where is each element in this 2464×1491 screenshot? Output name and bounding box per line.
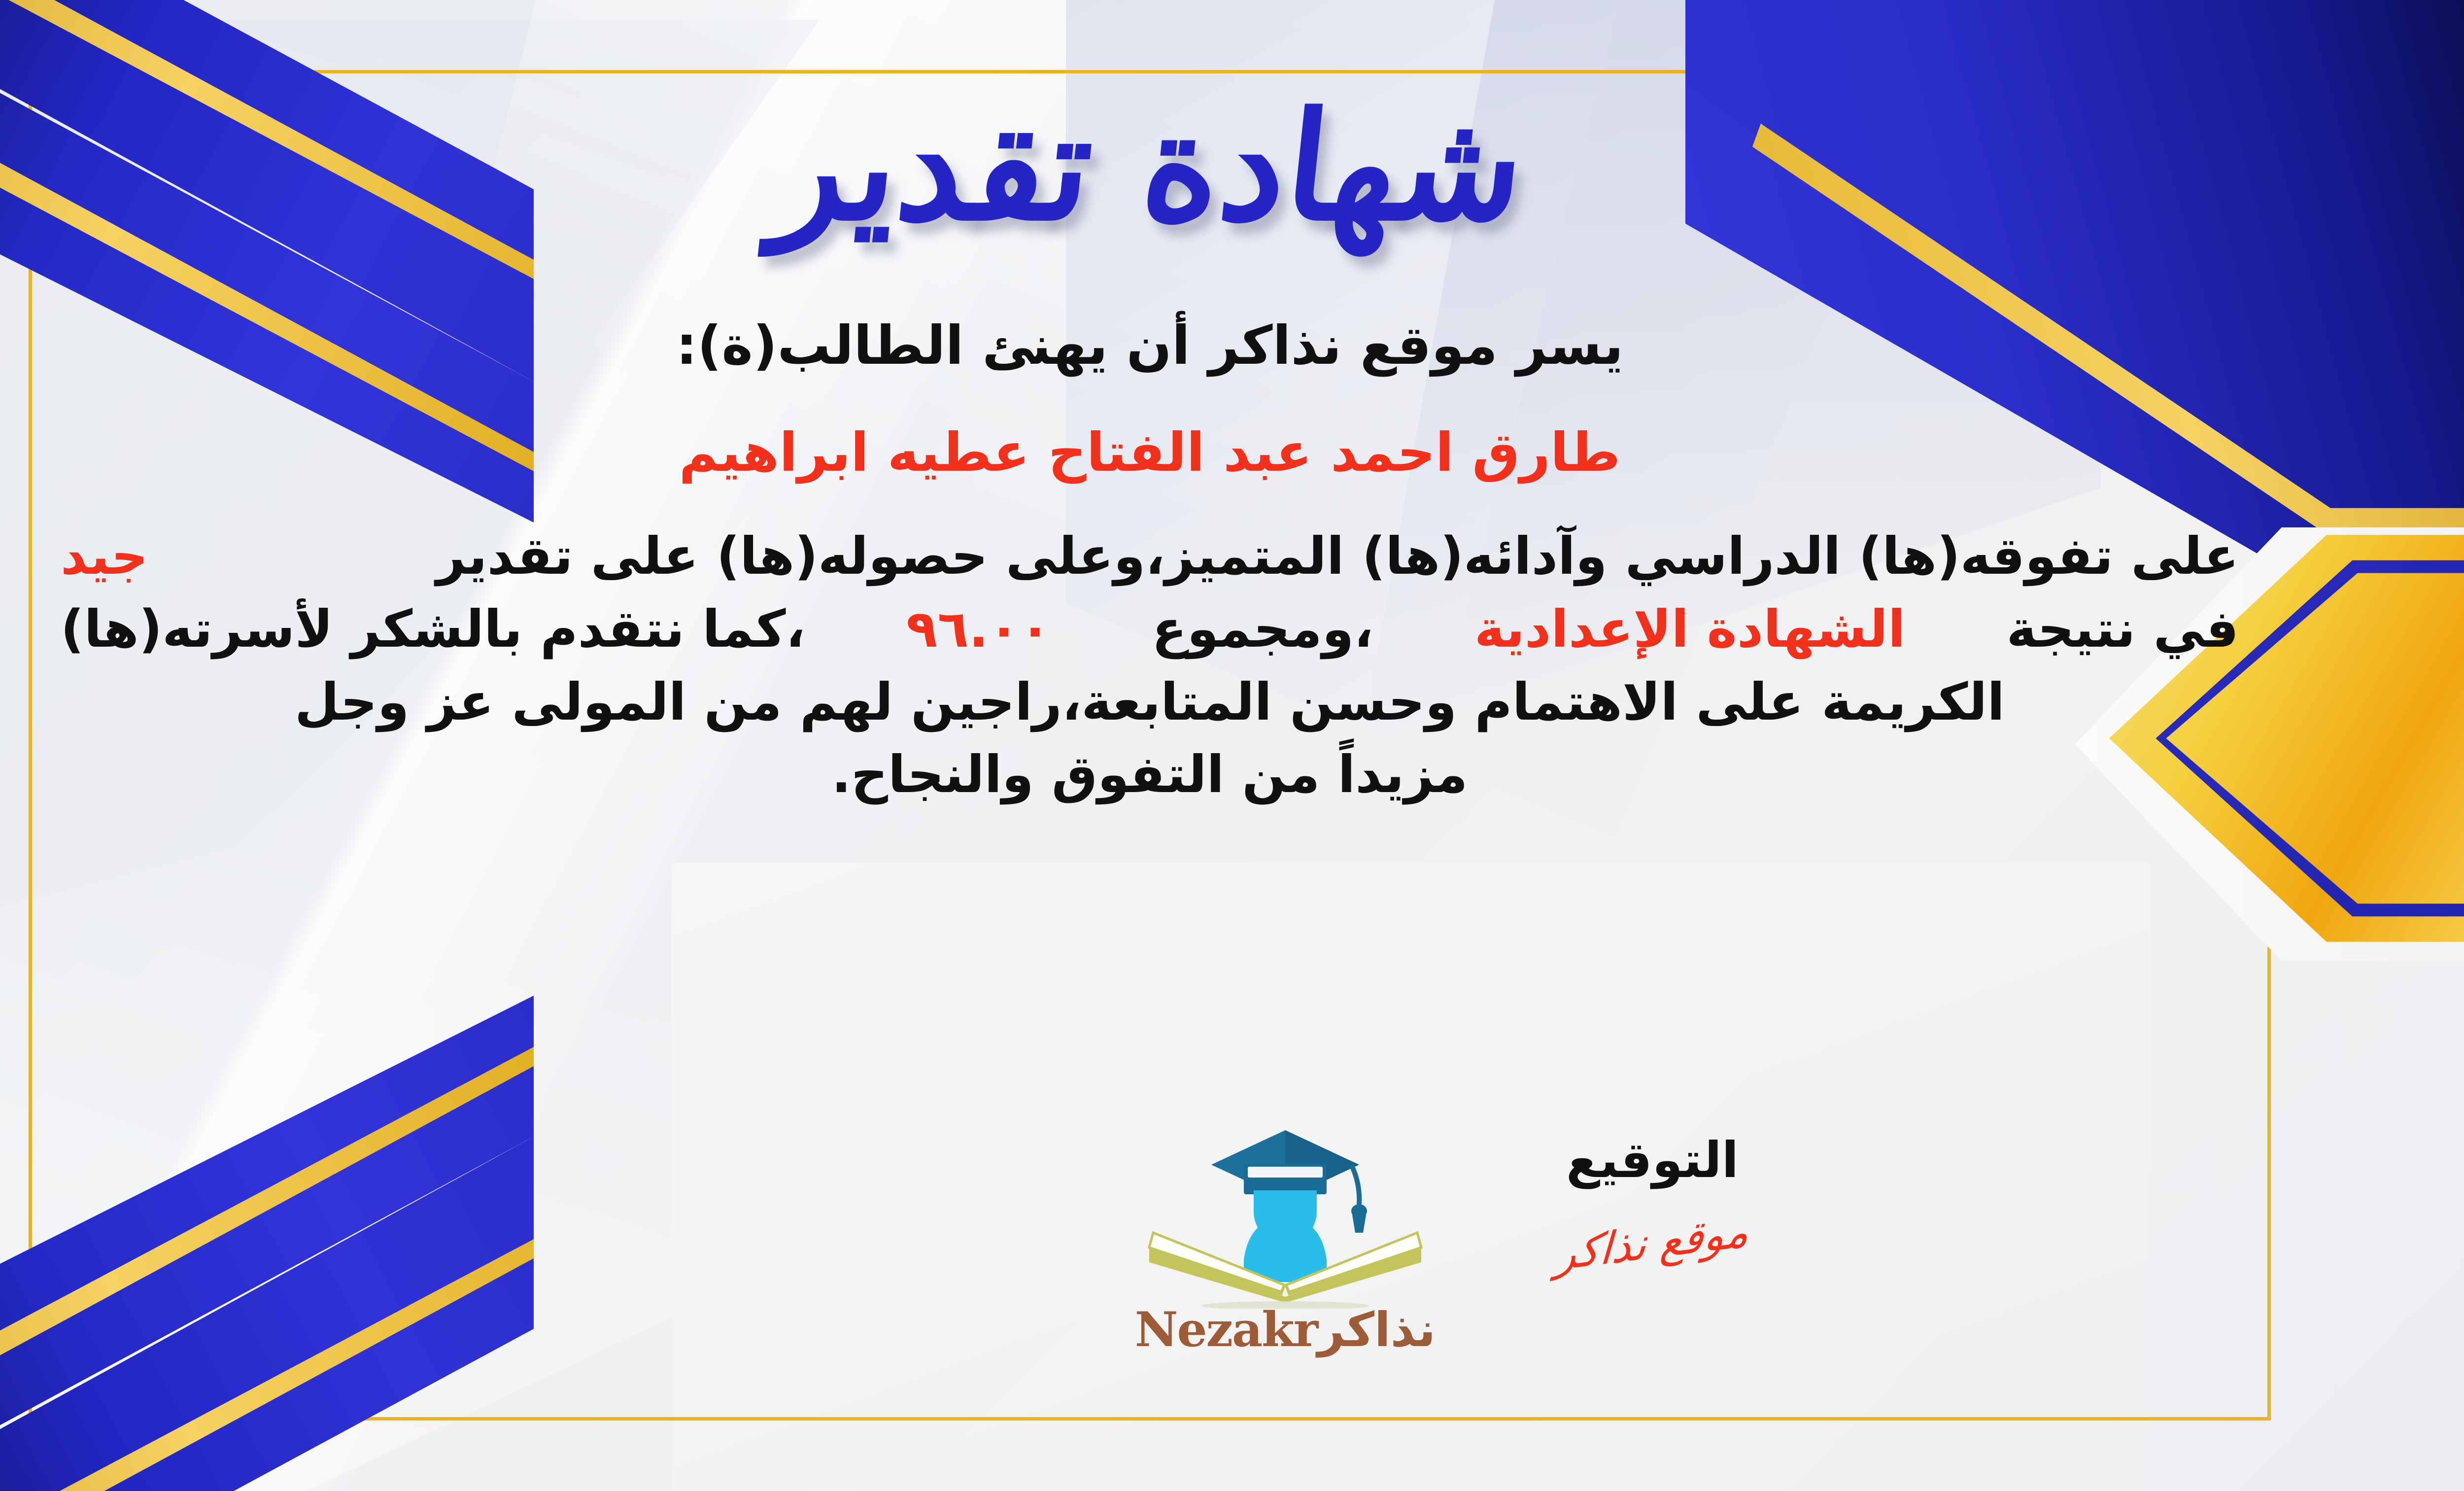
logo-latin-name: Nezakr	[1135, 1302, 1318, 1357]
certificate-body: يسر موقع نذاكر أن يهنئ الطالب(ة): طارق ا…	[41, 308, 2259, 811]
student-name: طارق احمد عبد الفتاح عطيه ابراهيم	[41, 422, 2259, 484]
score-value: ٩٦.٠٠	[906, 593, 1051, 666]
signature-label: التوقيع	[1470, 1131, 1835, 1189]
achievement-text: على تفوقه(ها) الدراسي وآدائه(ها) المتميز…	[436, 520, 2239, 593]
intro-line: يسر موقع نذاكر أن يهنئ الطالب(ة):	[41, 308, 2259, 383]
exam-name: الشهادة الإعدادية	[1474, 593, 1906, 666]
logo-arabic-name: نذاكر	[1317, 1302, 1436, 1357]
certificate-content: شهادة تقدير يسر موقع نذاكر أن يهنئ الطال…	[41, 79, 2259, 1410]
signature-area: التوقيع موقع نذاكر	[1470, 1131, 1835, 1268]
certificate-page: شهادة تقدير يسر موقع نذاكر أن يهنئ الطال…	[0, 0, 2464, 1491]
certificate-title: شهادة تقدير	[33, 89, 2266, 244]
graduate-book-logo-icon	[1147, 1121, 1423, 1309]
brand-logo: نذاكرNezakr	[1098, 1121, 1472, 1357]
thanks-line: الكريمة على الاهتمام وحسن المتابعة،راجين…	[41, 666, 2259, 739]
result-prefix: في نتيجة	[2006, 593, 2239, 666]
achievement-line: على تفوقه(ها) الدراسي وآدائه(ها) المتميز…	[41, 520, 2259, 593]
closing-line: مزيداً من التفوق والنجاح.	[41, 738, 2259, 811]
signature-handwriting: موقع نذاكر	[1554, 1205, 1750, 1281]
thanks-prefix: ،كما نتقدم بالشكر لأسرته(ها)	[61, 593, 805, 666]
logo-wordmark: نذاكرNezakr	[1098, 1302, 1472, 1357]
certificate-footer: التوقيع موقع نذاكر	[41, 1131, 2259, 1437]
result-line: في نتيجة الشهادة الإعدادية ،ومجموع ٩٦.٠٠…	[41, 593, 2259, 666]
grade-value: جيد	[61, 520, 148, 593]
total-label: ،ومجموع	[1152, 593, 1373, 666]
